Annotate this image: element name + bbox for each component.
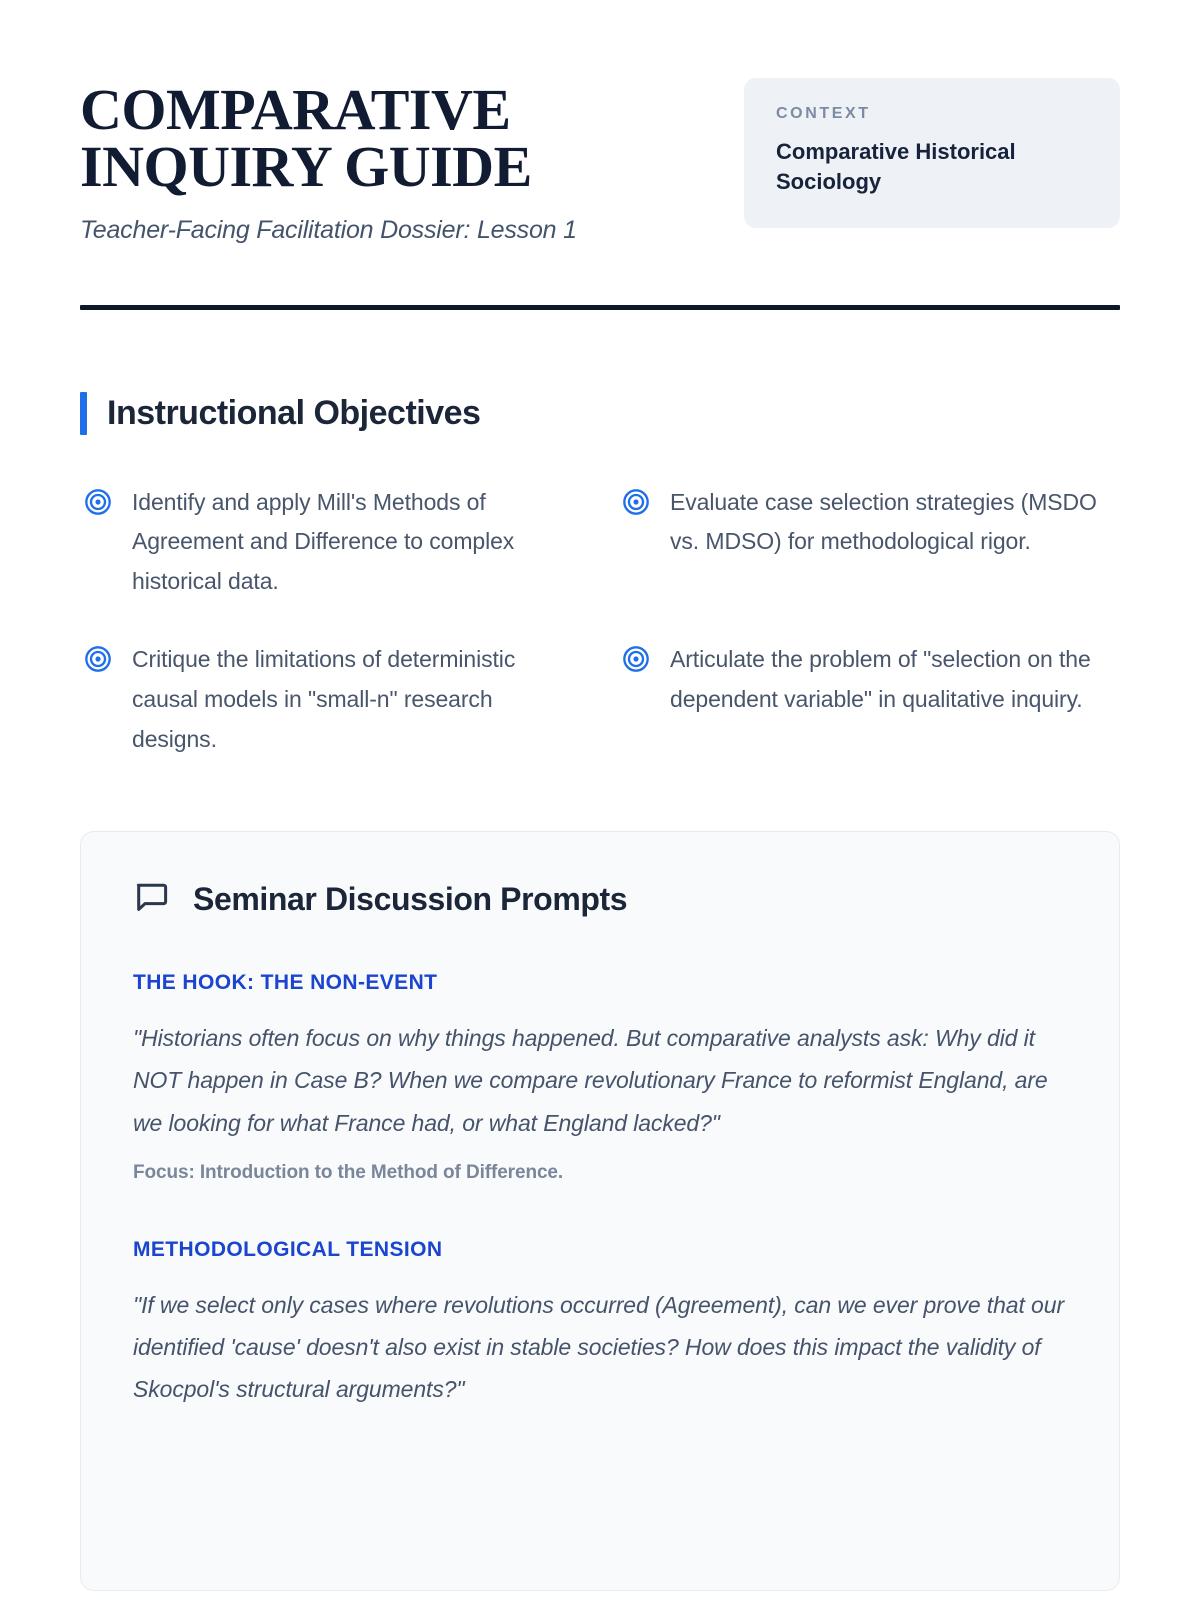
prompt-quote: "Historians often focus on why things ha…	[133, 1017, 1067, 1143]
objective-item: Identify and apply Mill's Methods of Agr…	[84, 483, 582, 602]
prompt-block: METHODOLOGICAL TENSION "If we select onl…	[133, 1238, 1067, 1410]
prompts-section-header: Seminar Discussion Prompts	[133, 878, 1067, 921]
prompt-label: THE HOOK: THE NON-EVENT	[133, 971, 1067, 995]
prompts-section-title: Seminar Discussion Prompts	[193, 881, 627, 918]
context-label: CONTEXT	[776, 105, 1088, 123]
objective-text: Evaluate case selection strategies (MSDO…	[670, 483, 1120, 563]
objective-item: Articulate the problem of "selection on …	[622, 640, 1120, 759]
objective-text: Identify and apply Mill's Methods of Agr…	[132, 483, 582, 602]
prompt-label: METHODOLOGICAL TENSION	[133, 1238, 1067, 1262]
prompt-focus: Focus: Introduction to the Method of Dif…	[133, 1162, 1067, 1184]
target-icon	[84, 645, 112, 678]
prompt-block: THE HOOK: THE NON-EVENT "Historians ofte…	[133, 971, 1067, 1183]
context-card: CONTEXT Comparative Historical Sociology	[744, 78, 1120, 228]
target-icon	[622, 488, 650, 521]
objective-text: Critique the limitations of deterministi…	[132, 640, 582, 759]
guide-page: COMPARATIVE INQUIRY GUIDE Teacher-Facing…	[0, 0, 1200, 1600]
target-icon	[622, 645, 650, 678]
objectives-grid: Identify and apply Mill's Methods of Agr…	[80, 483, 1120, 760]
objective-item: Critique the limitations of deterministi…	[84, 640, 582, 759]
page-subtitle: Teacher-Facing Facilitation Dossier: Les…	[80, 216, 720, 245]
prompt-quote: "If we select only cases where revolutio…	[133, 1284, 1067, 1410]
objective-text: Articulate the problem of "selection on …	[670, 640, 1120, 720]
speech-bubble-icon	[133, 878, 171, 921]
header-title-group: COMPARATIVE INQUIRY GUIDE Teacher-Facing…	[80, 82, 720, 245]
document-header: COMPARATIVE INQUIRY GUIDE Teacher-Facing…	[80, 0, 1120, 245]
target-icon	[84, 488, 112, 521]
context-value: Comparative Historical Sociology	[776, 137, 1088, 198]
objectives-section-header: Instructional Objectives	[80, 392, 1120, 435]
objectives-section-title: Instructional Objectives	[107, 394, 480, 433]
header-divider	[80, 305, 1120, 310]
page-title: COMPARATIVE INQUIRY GUIDE	[80, 82, 550, 196]
objective-item: Evaluate case selection strategies (MSDO…	[622, 483, 1120, 602]
accent-bar	[80, 392, 87, 435]
seminar-prompts-card: Seminar Discussion Prompts THE HOOK: THE…	[80, 831, 1120, 1591]
